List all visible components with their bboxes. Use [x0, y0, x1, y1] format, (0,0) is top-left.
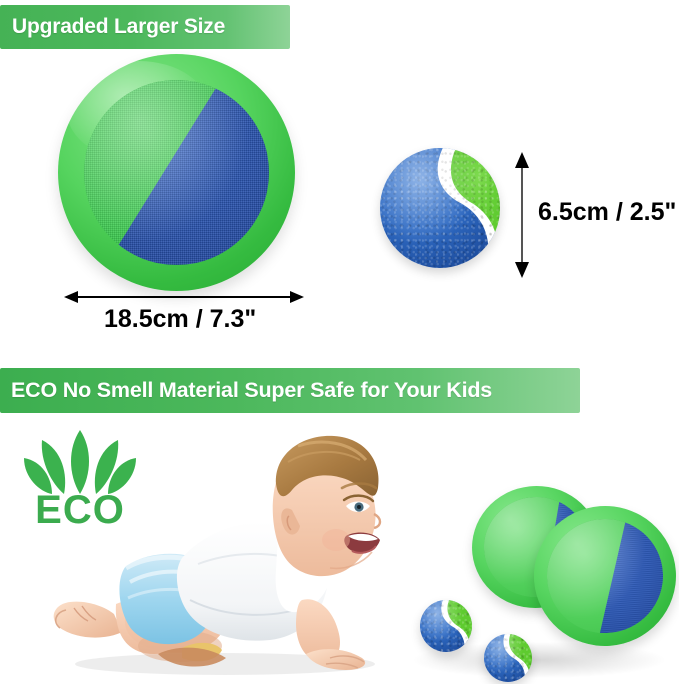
dimension-arrow-vertical	[510, 152, 534, 278]
ball-small-1-gloss	[420, 600, 472, 652]
ball-small-2	[484, 634, 532, 682]
baby-head	[273, 436, 380, 576]
ball-small-1	[420, 600, 472, 652]
banner-upgraded-text: Upgraded Larger Size	[12, 15, 225, 39]
banner-eco-text: ECO No Smell Material Super Safe for You…	[11, 378, 492, 403]
paddle-front-face	[543, 515, 667, 638]
ball-sphere	[380, 148, 500, 268]
ball-gloss-highlight	[380, 148, 500, 268]
banner-eco-no-smell-material: ECO No Smell Material Super Safe for You…	[0, 368, 580, 413]
crawling-baby-photo	[30, 418, 400, 678]
ball-small-1-sphere	[420, 600, 472, 652]
ball-small-2-sphere	[484, 634, 532, 682]
paddle-front-sheen	[543, 515, 667, 638]
dimension-label-paddle-width: 18.5cm / 7.3"	[104, 305, 256, 334]
product-set-group-image	[408, 482, 679, 682]
ball-large-product-image	[380, 148, 500, 268]
ball-small-2-gloss	[484, 634, 532, 682]
paddle-large-product-image	[58, 54, 295, 291]
banner-upgraded-larger-size: Upgraded Larger Size	[0, 5, 290, 49]
paddle-front	[529, 501, 679, 651]
dimension-arrow-horizontal	[64, 288, 304, 306]
dimension-label-ball-height: 6.5cm / 2.5"	[538, 198, 676, 227]
paddle-face-sheen	[84, 80, 269, 265]
paddle-catch-face	[84, 80, 269, 265]
